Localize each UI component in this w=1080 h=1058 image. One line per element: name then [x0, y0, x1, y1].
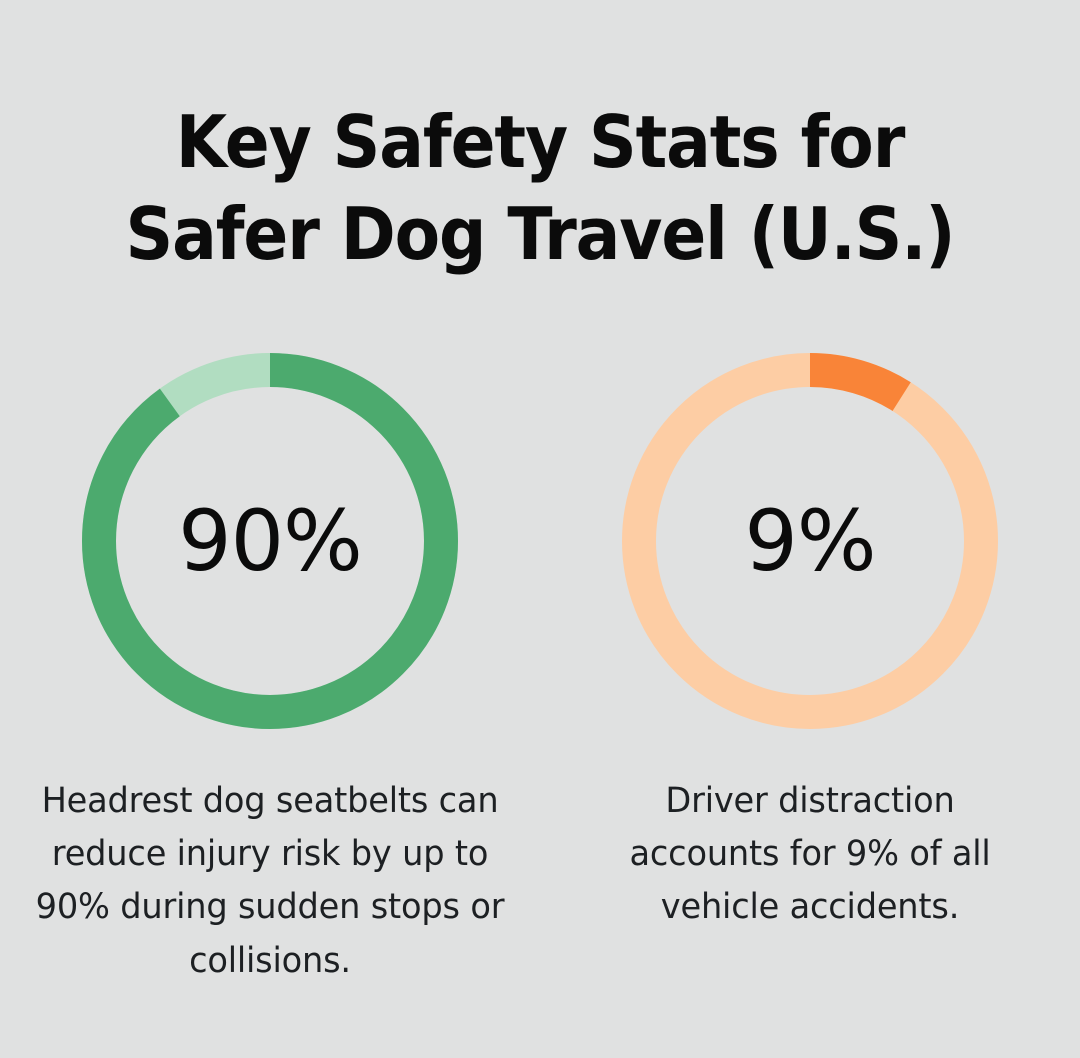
stat-caption-seatbelt: Headrest dog seatbelts can reduce injury…: [30, 775, 510, 988]
donut-svg-green: [82, 351, 458, 731]
donut-chart-driver-distraction: 9%: [622, 351, 998, 731]
stat-card-driver-distraction: 9% Driver distraction accounts for 9% of…: [550, 351, 1070, 970]
stats-row: 90% Headrest dog seatbelts can reduce in…: [0, 351, 1080, 1023]
infographic-canvas: Key Safety Stats for Safer Dog Travel (U…: [0, 0, 1080, 1058]
donut-svg-orange: [622, 351, 998, 731]
donut-track-orange: [639, 370, 981, 712]
page-title: Key Safety Stats for Safer Dog Travel (U…: [108, 96, 973, 280]
stat-caption-distraction: Driver distraction accounts for 9% of al…: [604, 775, 1017, 935]
donut-chart-seatbelt-injury-reduction: 90%: [82, 351, 458, 731]
donut-value-arc-green: [99, 370, 441, 712]
title-block: Key Safety Stats for Safer Dog Travel (U…: [0, 96, 1080, 280]
stat-card-seatbelt-injury-reduction: 90% Headrest dog seatbelts can reduce in…: [10, 351, 530, 1023]
